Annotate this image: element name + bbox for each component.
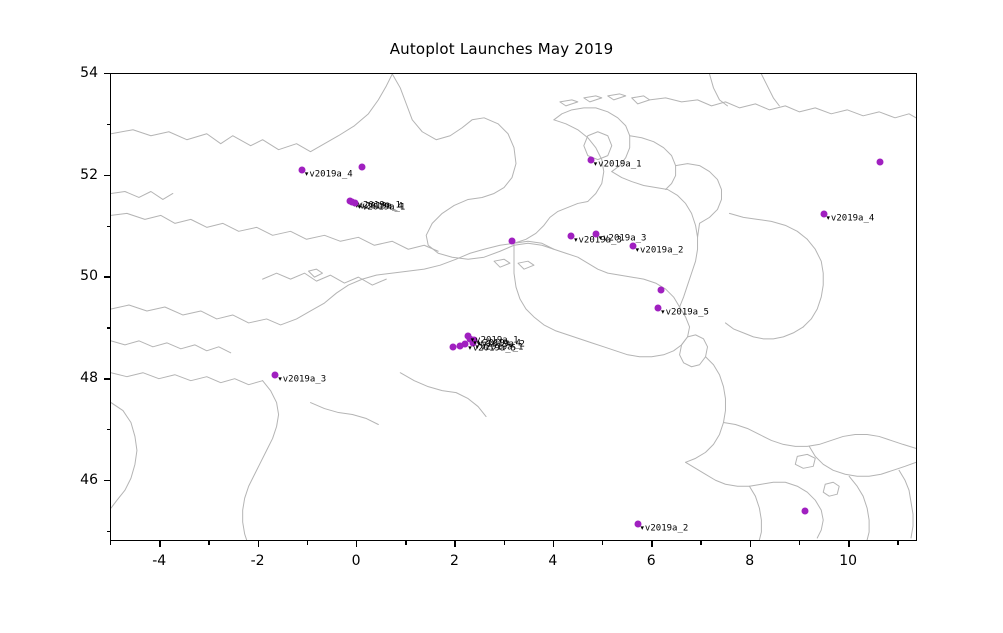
data-point-label: ▾v2019a_4 [826, 214, 875, 223]
data-point-label: ▾v2019a_3 [598, 235, 647, 244]
x-axis-tick-label: 6 [647, 553, 656, 569]
data-point-label: ▾v2019a_5 [660, 309, 709, 318]
x-axis-tick [159, 541, 160, 547]
y-axis-tick-label: 52 [62, 167, 98, 183]
data-point-label: ▾v2019a_2 [640, 525, 689, 534]
data-point-label: ▾v2019a_2 [635, 246, 684, 255]
y-axis-tick-label: 54 [62, 65, 98, 81]
y-axis-minor-tick [107, 531, 111, 532]
x-axis-tick [454, 541, 455, 547]
data-point [450, 343, 457, 350]
x-axis-minor-tick [405, 541, 406, 545]
x-axis-tick-label: 10 [839, 553, 857, 569]
data-point-label: ▾v2019a_5 [467, 344, 516, 353]
y-axis-tick-label: 46 [62, 472, 98, 488]
y-axis-minor-tick [107, 124, 111, 125]
data-point [358, 163, 365, 170]
x-axis-minor-tick [504, 541, 505, 545]
y-axis-minor-tick [107, 226, 111, 227]
x-axis-tick [750, 541, 751, 547]
data-point-label: ▾v2019a_4 [304, 170, 353, 179]
x-axis-tick [356, 541, 357, 547]
x-axis-minor-tick [602, 541, 603, 545]
y-axis-tick [104, 175, 110, 176]
x-axis-tick [553, 541, 554, 547]
x-axis-tick-label: -2 [251, 553, 265, 569]
x-axis-minor-tick [897, 541, 898, 545]
y-axis-tick-label: 50 [62, 268, 98, 284]
data-point [876, 159, 883, 166]
x-axis-minor-tick [208, 541, 209, 545]
y-axis-tick [104, 73, 110, 74]
y-axis-minor-tick [107, 327, 111, 328]
y-axis-tick-label: 48 [62, 370, 98, 386]
x-axis-minor-tick [799, 541, 800, 545]
x-axis-minor-tick [700, 541, 701, 545]
x-axis-tick-label: 0 [352, 553, 361, 569]
x-axis-minor-tick [110, 541, 111, 545]
x-axis-tick [258, 541, 259, 547]
y-axis-tick [104, 378, 110, 379]
x-axis-tick [651, 541, 652, 547]
y-axis-minor-tick [107, 429, 111, 430]
data-point-label: ▾v2019a_1 [357, 203, 406, 212]
data-point [509, 237, 516, 244]
data-point-label: ▾v2019a_3 [277, 376, 326, 385]
x-axis-tick-label: -4 [152, 553, 166, 569]
x-axis-tick-label: 4 [548, 553, 557, 569]
y-axis-tick [104, 480, 110, 481]
x-axis-tick [848, 541, 849, 547]
plot-axes: ▾v2019a_4▾v2019a_1▾v2019a_4▾v2019a_1▾v20… [110, 73, 917, 541]
y-axis-tick [104, 276, 110, 277]
data-points-layer: ▾v2019a_4▾v2019a_1▾v2019a_4▾v2019a_1▾v20… [111, 74, 916, 540]
scatter-map-figure: Autoplot Launches May 2019 [0, 0, 1003, 633]
data-point [658, 287, 665, 294]
x-axis-minor-tick [307, 541, 308, 545]
page-title: Autoplot Launches May 2019 [0, 40, 1003, 58]
x-axis-tick-label: 2 [450, 553, 459, 569]
x-axis-tick-label: 8 [745, 553, 754, 569]
data-point [801, 508, 808, 515]
data-point-label: ▾v2019a_1 [593, 161, 642, 170]
data-point [457, 342, 464, 349]
